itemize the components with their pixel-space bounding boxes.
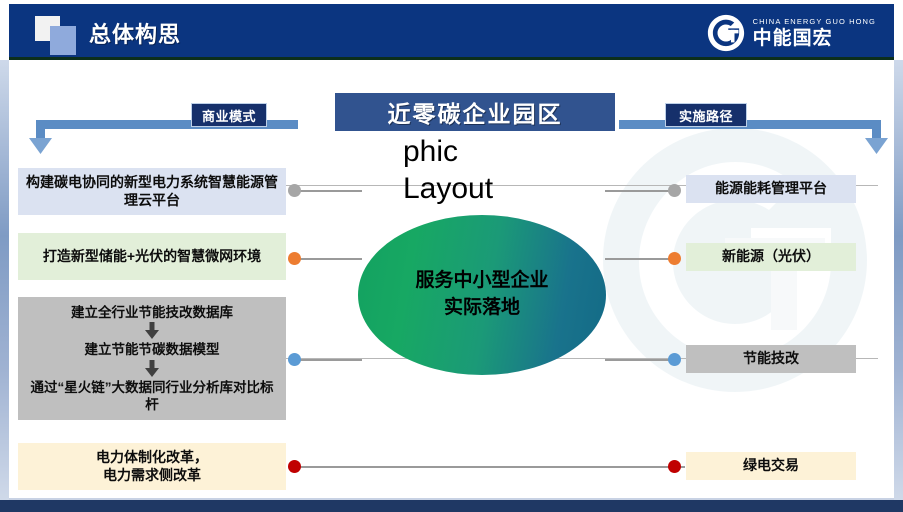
connector-dot-left-4 xyxy=(288,460,301,473)
flow-step-2: 建立节能节碳数据模型 xyxy=(85,341,220,358)
right-box-4-label: 绿电交易 xyxy=(743,457,799,475)
right-box-energy-management-platform[interactable]: 能源能耗管理平台 xyxy=(686,175,856,203)
connector-dot-left-3 xyxy=(288,353,301,366)
logo-chinese-name: 中能国宏 xyxy=(753,29,876,48)
left-elbow-arrow-icon xyxy=(18,118,318,160)
center-ellipse-label: 服务中小型企业 实际落地 xyxy=(358,215,606,375)
connector-right-1 xyxy=(605,190,675,192)
company-logo: CHINA ENERGY GUO HONG 中能国宏 xyxy=(706,12,876,54)
connector-left-3 xyxy=(300,359,362,361)
connector-right-4 xyxy=(605,466,675,468)
circle-g-logo-icon xyxy=(706,13,746,53)
connector-dot-right-3 xyxy=(668,353,681,366)
connector-dot-right-4 xyxy=(668,460,681,473)
header-square-blue-icon xyxy=(50,26,76,55)
slide-canvas: 总体构思 CHINA ENERGY GUO HONG 中能国宏 商业模式 xyxy=(0,0,903,512)
left-box-2-label: 打造新型储能+光伏的智慧微网环境 xyxy=(43,248,261,266)
left-box-storage-pv-microgrid[interactable]: 打造新型储能+光伏的智慧微网环境 xyxy=(18,233,286,280)
frame-left-border xyxy=(0,60,9,500)
flow-step-1: 建立全行业节能技改数据库 xyxy=(71,304,233,321)
left-box-power-reform[interactable]: 电力体制化改革， 电力需求侧改革 xyxy=(18,443,286,490)
logo-text: CHINA ENERGY GUO HONG 中能国宏 xyxy=(753,18,876,48)
connector-right-2 xyxy=(605,258,675,260)
left-box-energy-saving-flow[interactable]: 建立全行业节能技改数据库 建立节能节碳数据模型 通过“星火链”大数据同行业分析库… xyxy=(18,297,286,420)
right-box-1-label: 能源能耗管理平台 xyxy=(715,180,827,198)
right-box-new-energy-pv[interactable]: 新能源（光伏） xyxy=(686,243,856,271)
logo-english-name: CHINA ENERGY GUO HONG xyxy=(753,18,876,26)
connector-dot-right-1 xyxy=(668,184,681,197)
connector-dot-left-2 xyxy=(288,252,301,265)
flow-step-3: 通过“星火链”大数据同行业分析库对比标杆 xyxy=(24,379,280,414)
right-elbow-arrow-icon xyxy=(605,118,903,160)
tag-implementation-path[interactable]: 实施路径 xyxy=(665,103,747,127)
down-arrow-icon-2 xyxy=(144,360,160,378)
placeholder-text-overlay: phic Layout xyxy=(403,134,493,207)
connector-left-2 xyxy=(300,258,362,260)
page-title: 总体构思 xyxy=(89,17,181,49)
left-box-1-label: 构建碳电协同的新型电力系统智慧能源管理云平台 xyxy=(24,174,280,210)
slide-header: 总体构思 CHINA ENERGY GUO HONG 中能国宏 xyxy=(9,4,894,60)
center-line-2: 实际落地 xyxy=(444,295,520,322)
main-title-banner: 近零碳企业园区 xyxy=(335,93,615,131)
connector-left-1 xyxy=(300,190,362,192)
right-box-green-power-trading[interactable]: 绿电交易 xyxy=(686,452,856,480)
tag-business-model[interactable]: 商业模式 xyxy=(191,103,267,127)
frame-bottom-border xyxy=(0,500,903,512)
connector-dot-right-2 xyxy=(668,252,681,265)
left-box-4-label: 电力体制化改革， 电力需求侧改革 xyxy=(96,449,208,485)
center-line-1: 服务中小型企业 xyxy=(415,268,548,295)
right-box-energy-saving-retrofit[interactable]: 节能技改 xyxy=(686,345,856,373)
connector-dot-left-1 xyxy=(288,184,301,197)
left-box-energy-cloud-platform[interactable]: 构建碳电协同的新型电力系统智慧能源管理云平台 xyxy=(18,168,286,215)
right-box-3-label: 节能技改 xyxy=(743,350,799,368)
connector-right-3 xyxy=(605,359,675,361)
down-arrow-icon-1 xyxy=(144,322,160,340)
right-box-2-label: 新能源（光伏） xyxy=(722,248,820,266)
